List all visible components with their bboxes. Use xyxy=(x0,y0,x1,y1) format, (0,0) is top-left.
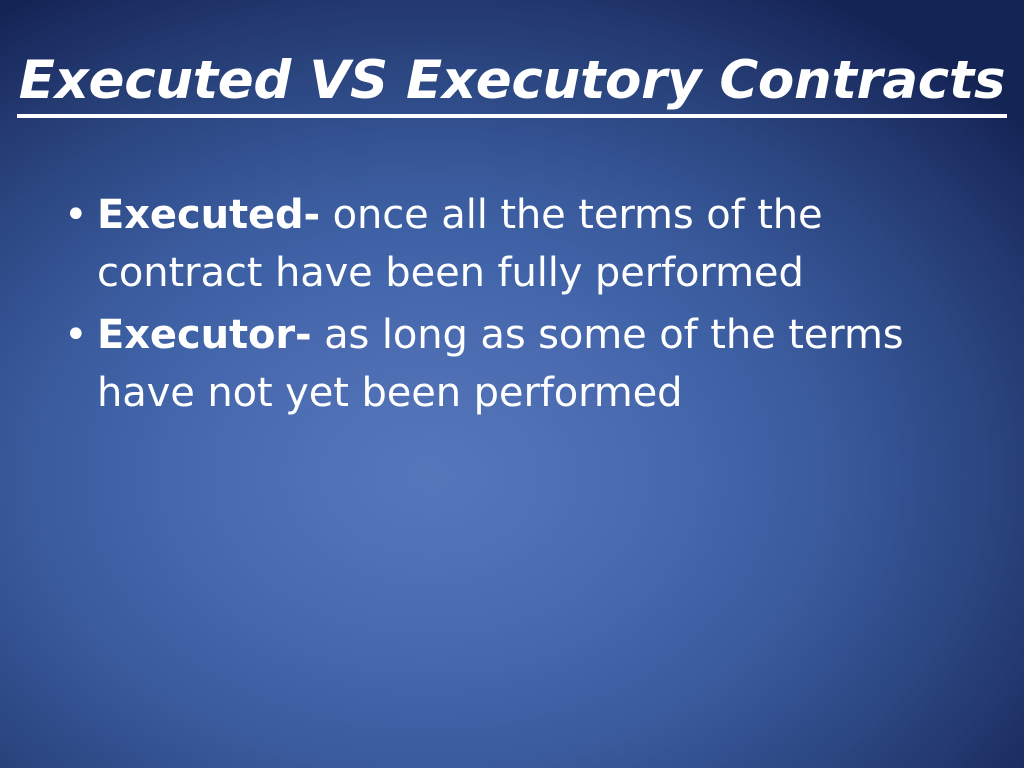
bullet-lead-term-1: Executed- xyxy=(97,192,320,238)
slide-title-block: Executed VS Executory Contracts xyxy=(0,54,1024,118)
bullet-text-2: Executor- as long as some of the terms h… xyxy=(97,306,927,422)
page-title: Executed VS Executory Contracts xyxy=(17,54,1007,118)
list-item: • Executed- once all the terms of the co… xyxy=(58,186,958,302)
slide-canvas: Executed VS Executory Contracts • Execut… xyxy=(0,0,1024,768)
bullet-point-icon: • xyxy=(58,186,97,244)
bullet-point-icon: • xyxy=(58,306,97,364)
list-item: • Executor- as long as some of the terms… xyxy=(58,306,958,422)
slide-body-content: • Executed- once all the terms of the co… xyxy=(58,186,958,426)
bullet-text-1: Executed- once all the terms of the cont… xyxy=(97,186,927,302)
bullet-lead-term-2: Executor- xyxy=(97,312,311,358)
